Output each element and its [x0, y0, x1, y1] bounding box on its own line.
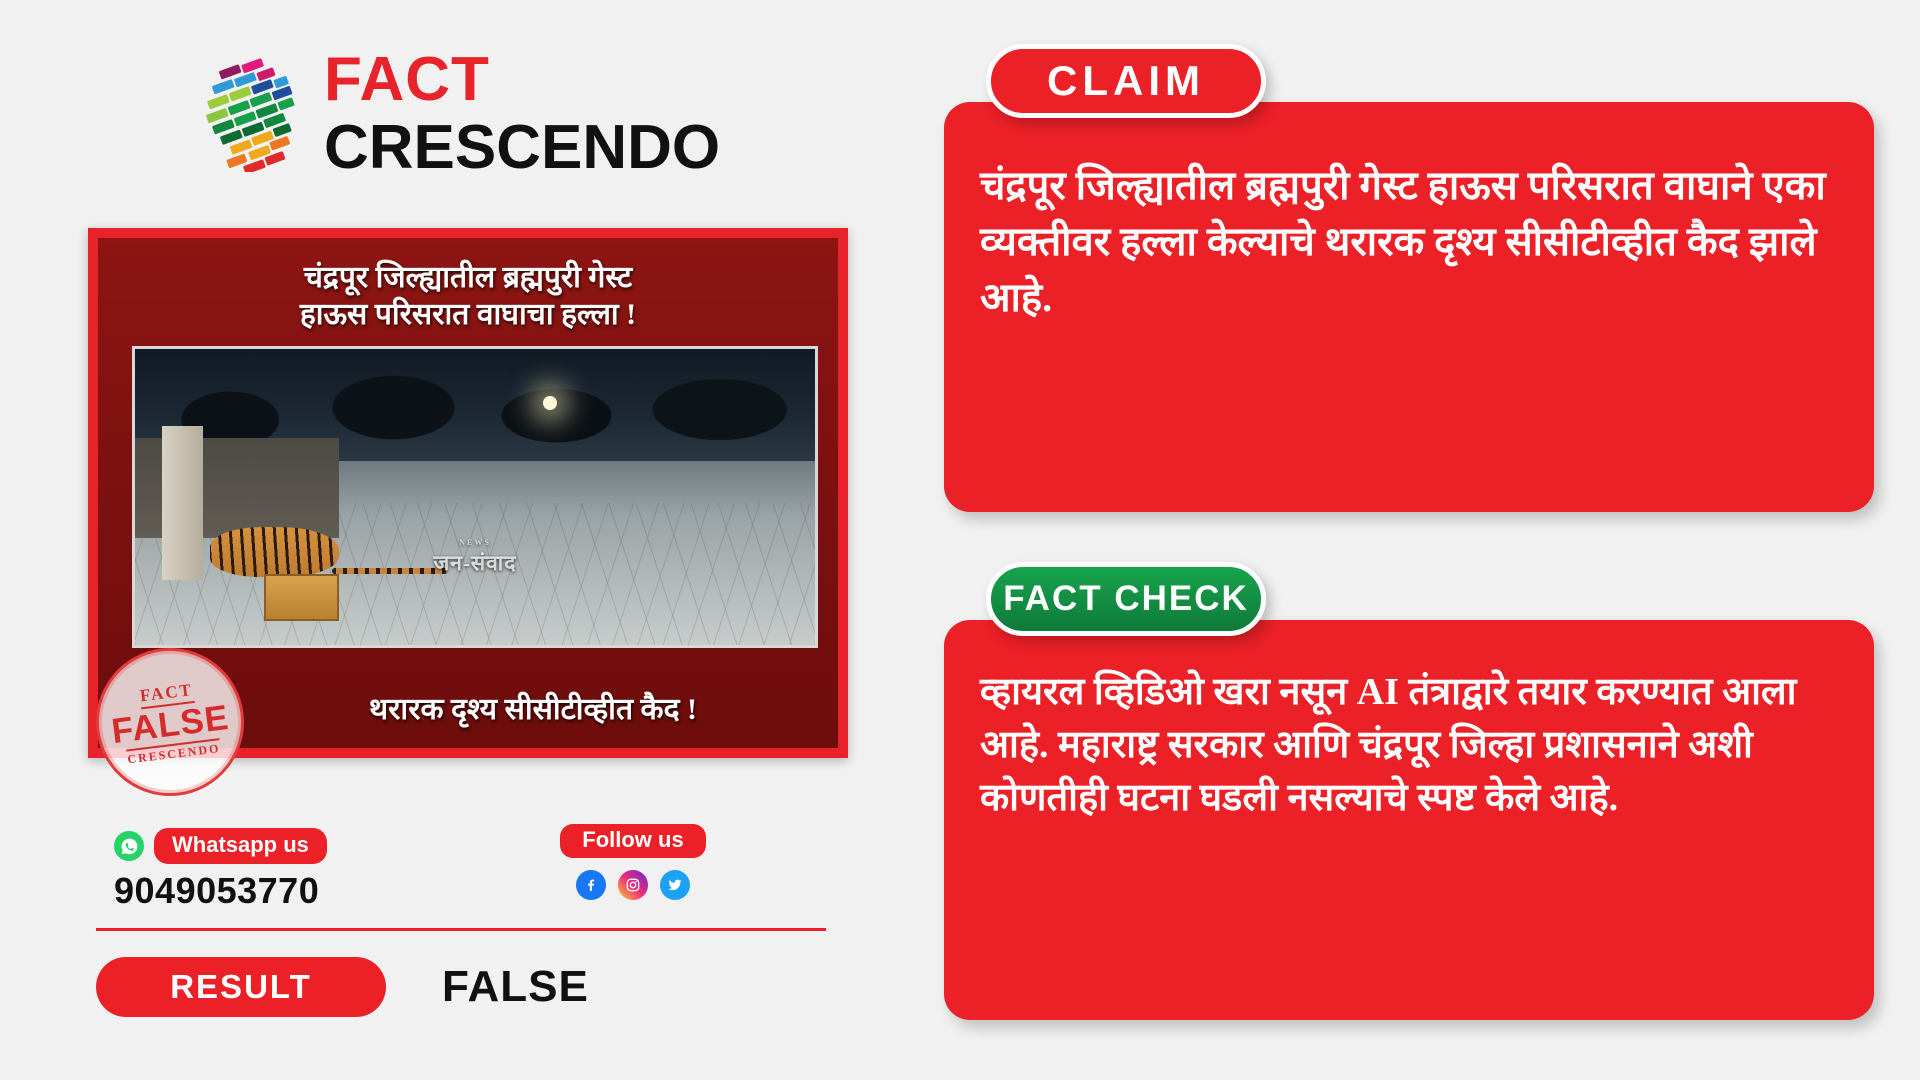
fact-check-badge: FACT CHECK: [986, 562, 1266, 636]
brand-name-crescendo: CRESCENDO: [324, 116, 720, 180]
social-icon-row: [528, 870, 738, 900]
claim-badge: CLAIM: [986, 44, 1266, 118]
fact-check-text: व्हायरल व्हिडिओ खरा नसून AI तंत्राद्वारे…: [980, 666, 1838, 825]
watermark-small-text: NEWS: [434, 533, 517, 553]
left-column: FACT CRESCENDO चंद्रपूर जिल्ह्यातील ब्रह…: [0, 0, 900, 1080]
footer-divider: [96, 928, 826, 931]
claim-text: चंद्रपूर जिल्ह्यातील ब्रह्मपुरी गेस्ट हा…: [980, 158, 1838, 326]
brand-name-fact: FACT: [324, 50, 720, 110]
fact-check-card: व्हायरल व्हिडिओ खरा नसून AI तंत्राद्वारे…: [944, 620, 1874, 1020]
brand-logo: FACT CRESCENDO: [196, 48, 696, 180]
channel-watermark: NEWS जन-संवाद: [434, 533, 517, 573]
follow-label: Follow us: [560, 824, 705, 858]
result-row: RESULT FALSE: [96, 952, 826, 1022]
whatsapp-line[interactable]: Whatsapp us: [114, 828, 327, 864]
instagram-icon[interactable]: [618, 870, 648, 900]
contact-row: Whatsapp us 9049053770 Follow us: [96, 818, 856, 908]
scene-pillar: [162, 426, 203, 580]
result-value: FALSE: [442, 962, 589, 1012]
thumbnail-headline-line1: चंद्रपूर जिल्ह्यातील ब्रह्मपुरी गेस्ट: [304, 259, 632, 296]
scene-tiger-tail: [332, 568, 448, 574]
watermark-text: जन-संवाद: [434, 551, 517, 575]
thumbnail-headline: चंद्रपूर जिल्ह्यातील ब्रह्मपुरी गेस्ट हा…: [98, 248, 838, 344]
scene-chair: [264, 574, 339, 621]
whatsapp-number: 9049053770: [114, 870, 319, 912]
scene-trees: [135, 349, 815, 450]
brand-wordmark: FACT CRESCENDO: [324, 50, 720, 180]
cctv-video-still: NEWS जन-संवाद: [132, 346, 818, 648]
globe-brick-icon: [196, 52, 312, 172]
facebook-icon[interactable]: [576, 870, 606, 900]
claim-card: चंद्रपूर जिल्ह्यातील ब्रह्मपुरी गेस्ट हा…: [944, 102, 1874, 512]
whatsapp-icon: [114, 831, 144, 861]
whatsapp-label[interactable]: Whatsapp us: [154, 828, 327, 864]
twitter-icon[interactable]: [660, 870, 690, 900]
fact-check-graphic: FACT CRESCENDO चंद्रपूर जिल्ह्यातील ब्रह…: [0, 0, 1920, 1080]
thumbnail-headline-line2: हाऊस परिसरात वाघाचा हल्ला !: [300, 296, 636, 333]
right-column: चंद्रपूर जिल्ह्यातील ब्रह्मपुरी गेस्ट हा…: [930, 0, 1920, 1080]
follow-block: Follow us: [528, 824, 738, 900]
result-label: RESULT: [96, 957, 386, 1017]
scene-tiger: [210, 527, 339, 577]
